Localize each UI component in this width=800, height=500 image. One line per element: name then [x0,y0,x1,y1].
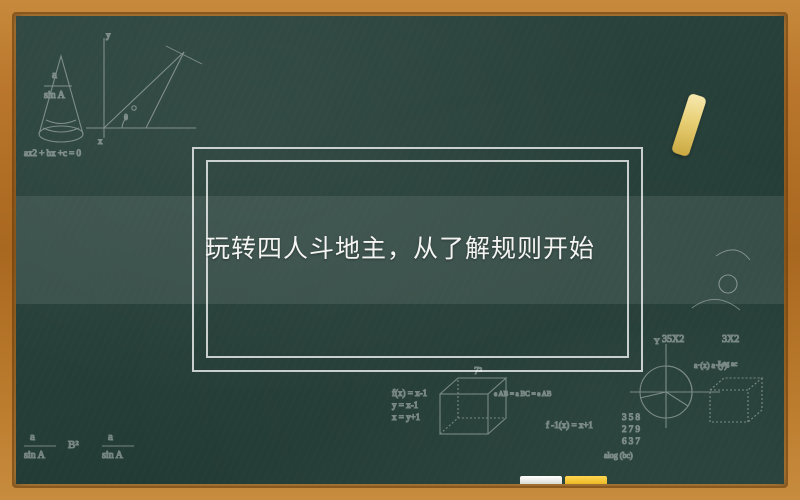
svg-text:e AB = a BC = e AB: e AB = a BC = e AB [494,390,552,398]
svg-text:Log ac: Log ac [718,360,737,368]
svg-text:sin A: sin A [24,450,46,461]
svg-text:a: a [30,431,35,443]
svg-text:a·(x) a·(y): a·(x) a·(y) [694,361,727,370]
svg-text:ax2 + bx +c = 0: ax2 + bx +c = 0 [24,148,81,158]
svg-text:y: y [106,30,111,40]
svg-text:f -1(x) = x+1: f -1(x) = x+1 [546,420,593,430]
svg-text:6 3 7: 6 3 7 [622,436,641,446]
svg-text:θ: θ [124,113,128,122]
svg-text:sin A: sin A [44,90,66,101]
svg-text:Y: Y [654,337,660,346]
page-title: 玩转四人斗地主，从了解规则开始 [0,229,800,265]
svg-text:x = y+1: x = y+1 [392,412,420,422]
svg-text:B²: B² [68,439,79,451]
svg-text:35X2: 35X2 [662,334,684,345]
svg-text:x: x [98,136,103,146]
svg-text:3 5 8: 3 5 8 [622,412,641,422]
svg-text:a: a [52,69,57,81]
svg-text:sin A: sin A [102,450,124,461]
svg-text:a: a [108,431,113,443]
white-chalk [520,476,562,484]
svg-text:3X2: 3X2 [722,334,739,345]
svg-text:alog (bc): alog (bc) [604,451,633,460]
svg-text:y = x-1: y = x-1 [392,400,418,410]
screenshot-root: a sin A ax2 + bx +c = 0 y x θ [0,0,800,500]
svg-text:2 7 9: 2 7 9 [622,424,641,434]
yellow-chalk [565,476,607,484]
chalk-stub [671,93,707,158]
svg-text:f(x) = x-1: f(x) = x-1 [392,388,427,398]
